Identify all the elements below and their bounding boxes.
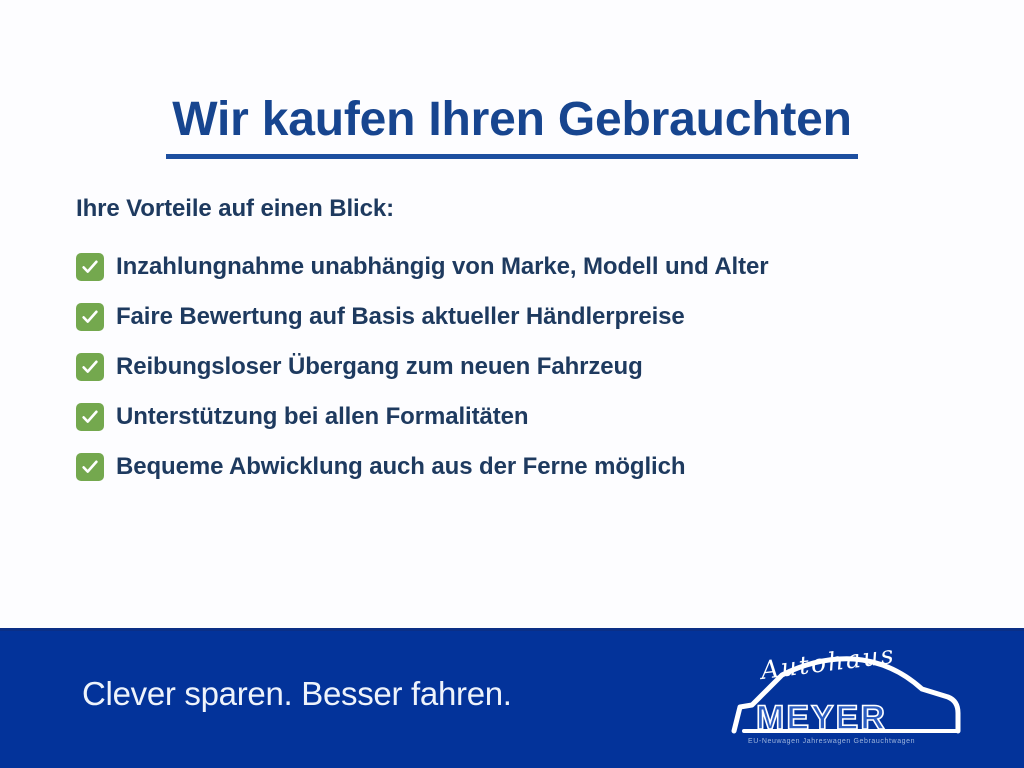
list-item: Faire Bewertung auf Basis aktueller Händ… [76, 292, 976, 342]
benefits-list: Inzahlungnahme unabhängig von Marke, Mod… [76, 242, 976, 492]
list-item-label: Reibungsloser Übergang zum neuen Fahrzeu… [116, 354, 643, 380]
dealer-logo: Autohaus MEYER EU-Neuwagen Jahreswagen G… [726, 645, 966, 755]
logo-brand-text: MEYER [756, 699, 887, 737]
benefits-section: Ihre Vorteile auf einen Blick: Inzahlung… [76, 196, 976, 492]
benefits-lead-text: Ihre Vorteile auf einen Blick: [76, 196, 976, 222]
green-check-icon [76, 453, 104, 481]
list-item: Unterstützung bei allen Formalitäten [76, 392, 976, 442]
list-item: Inzahlungnahme unabhängig von Marke, Mod… [76, 242, 976, 292]
list-item: Reibungsloser Übergang zum neuen Fahrzeu… [76, 342, 976, 392]
footer-banner: Clever sparen. Besser fahren. Autohaus M… [0, 628, 1024, 768]
green-check-icon [76, 353, 104, 381]
slide-root: Wir kaufen Ihren Gebrauchten Ihre Vortei… [0, 0, 1024, 768]
page-title: Wir kaufen Ihren Gebrauchten [166, 94, 857, 159]
page-title-container: Wir kaufen Ihren Gebrauchten [0, 62, 1024, 191]
list-item: Bequeme Abwicklung auch aus der Ferne mö… [76, 442, 976, 492]
footer-tagline: Clever sparen. Besser fahren. [82, 675, 512, 713]
list-item-label: Inzahlungnahme unabhängig von Marke, Mod… [116, 254, 769, 280]
green-check-icon [76, 253, 104, 281]
list-item-label: Unterstützung bei allen Formalitäten [116, 404, 528, 430]
green-check-icon [76, 303, 104, 331]
list-item-label: Bequeme Abwicklung auch aus der Ferne mö… [116, 454, 685, 480]
list-item-label: Faire Bewertung auf Basis aktueller Händ… [116, 304, 685, 330]
logo-script-text: Autohaus [757, 645, 897, 685]
logo-subline-text: EU-Neuwagen Jahreswagen Gebrauchtwagen [748, 738, 915, 745]
green-check-icon [76, 403, 104, 431]
